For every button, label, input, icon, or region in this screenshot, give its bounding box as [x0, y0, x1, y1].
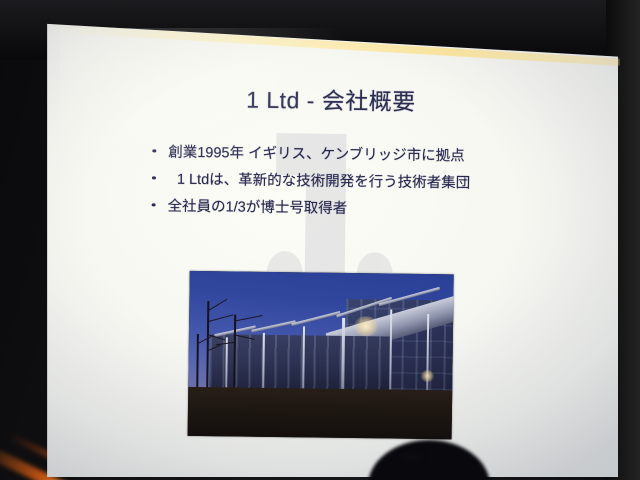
bullet-text: 全社員の1/3が博士号取得者: [167, 196, 347, 220]
bullet-marker-icon: [152, 168, 168, 190]
bullet-text: 1 Ltdは、革新的な技術開発を行う技術者集団: [168, 169, 471, 195]
bullet-marker-icon: [151, 195, 167, 217]
bullet-list: 創業1995年 イギリス、ケンブリッジ市に拠点 1 Ltdは、革新的な技術開発を…: [151, 141, 582, 228]
audience-hair-tuft: [398, 452, 424, 462]
photo-shading-overlay: [188, 271, 454, 439]
screenshot-stage: 1 Ltd - 会社概要 創業1995年 イギリス、ケンブリッジ市に拠点 1 L…: [0, 0, 640, 480]
bullet-text: 創業1995年 イギリス、ケンブリッジ市に拠点: [168, 142, 465, 168]
slide-title: 1 Ltd - 会社概要: [45, 78, 617, 119]
bullet-marker-icon: [152, 141, 168, 163]
list-item: 全社員の1/3が博士号取得者: [151, 195, 581, 223]
list-item: 1 Ltdは、革新的な技術開発を行う技術者集団: [152, 168, 582, 196]
list-item: 創業1995年 イギリス、ケンブリッジ市に拠点: [152, 141, 582, 169]
presentation-slide: 1 Ltd - 会社概要 創業1995年 イギリス、ケンブリッジ市に拠点 1 L…: [40, 22, 618, 480]
office-building-photo: [188, 271, 454, 439]
